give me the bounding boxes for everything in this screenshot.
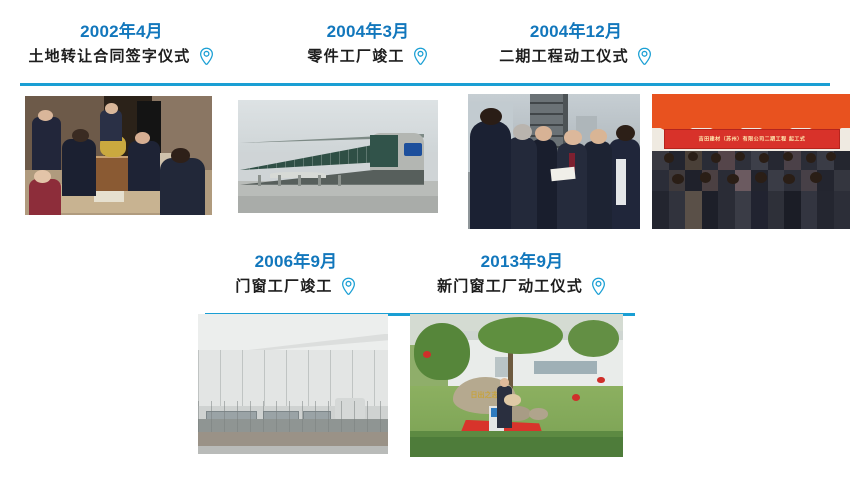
milestone-2013-09[interactable]: 2013年9月 新门窗工厂动工仪式 xyxy=(412,252,632,296)
photo-banner-text: 吉田建材（苏州）有限公司二期工程 起工式 xyxy=(665,135,839,142)
map-pin-icon xyxy=(340,277,357,296)
milestone-photo-signing-ceremony[interactable] xyxy=(25,96,212,215)
milestone-2004-12[interactable]: 2004年12月 二期工程动工仪式 xyxy=(466,22,686,66)
timeline-row-1: 2002年4月 土地转让合同签字仪式 2004年3月 零件工厂竣工 xyxy=(0,22,850,84)
milestone-subtitle: 零件工厂竣工 xyxy=(307,48,404,66)
timeline-row-2-header: 2006年9月 门窗工厂竣工 2013年9月 新门窗工厂动工仪式 xyxy=(0,252,850,314)
photo-people-row-front xyxy=(652,191,850,229)
milestone-subtitle: 门窗工厂竣工 xyxy=(235,278,332,296)
timeline-row-1-header: 2002年4月 土地转让合同签字仪式 2004年3月 零件工厂竣工 xyxy=(0,22,850,84)
milestone-photo-window-factory[interactable] xyxy=(198,314,388,454)
map-pin-icon xyxy=(198,47,215,66)
map-pin-icon xyxy=(590,277,607,296)
milestone-date: 2004年12月 xyxy=(466,22,686,42)
company-history-timeline: 2002年4月 土地转让合同签字仪式 2004年3月 零件工厂竣工 xyxy=(0,0,850,504)
milestone-photo-phase2-ceremony[interactable] xyxy=(468,94,640,229)
milestone-date: 2006年9月 xyxy=(200,252,392,272)
timeline-rule-row-1 xyxy=(20,83,830,86)
milestone-photo-parts-factory[interactable] xyxy=(238,100,438,213)
map-pin-icon xyxy=(412,47,429,66)
milestone-date: 2004年3月 xyxy=(268,22,468,42)
milestone-subtitle: 新门窗工厂动工仪式 xyxy=(437,278,583,296)
milestone-2006-09[interactable]: 2006年9月 门窗工厂竣工 xyxy=(200,252,392,296)
milestone-photo-new-factory-ceremony[interactable]: 日出之志 xyxy=(410,314,623,457)
milestone-date: 2013年9月 xyxy=(412,252,632,272)
milestone-2004-03[interactable]: 2004年3月 零件工厂竣工 xyxy=(268,22,468,66)
milestone-subtitle: 土地转让合同签字仪式 xyxy=(28,48,190,66)
timeline-row-2: 2006年9月 门窗工厂竣工 2013年9月 新门窗工厂动工仪式 xyxy=(0,252,850,314)
milestone-photo-groundbreaking-group[interactable]: 吉田建材（苏州）有限公司二期工程 起工式 xyxy=(652,94,850,229)
milestone-subtitle: 二期工程动工仪式 xyxy=(499,48,629,66)
milestone-date: 2002年4月 xyxy=(14,22,229,42)
milestone-2002-04[interactable]: 2002年4月 土地转让合同签字仪式 xyxy=(14,22,229,66)
map-pin-icon xyxy=(636,47,653,66)
photo-banner: 吉田建材（苏州）有限公司二期工程 起工式 xyxy=(664,129,840,149)
